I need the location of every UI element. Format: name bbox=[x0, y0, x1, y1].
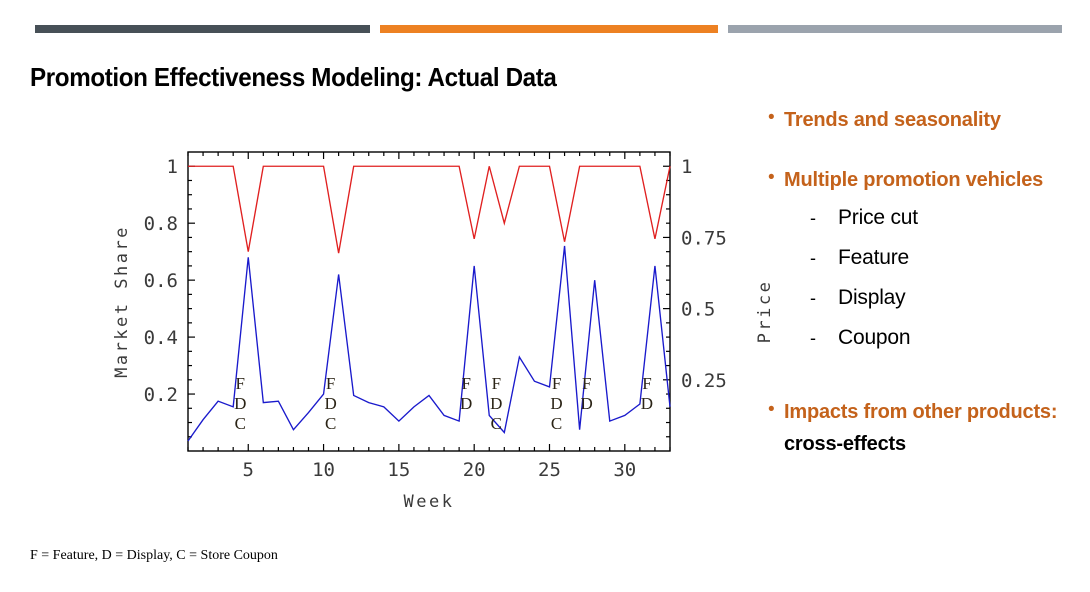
y2-tick-label: 1 bbox=[681, 156, 692, 178]
promo-annotation-letter: D bbox=[234, 394, 246, 413]
promo-annotation-letter: D bbox=[641, 394, 653, 413]
promo-annotation-letter: F bbox=[461, 374, 470, 393]
bullet-spacer bbox=[768, 138, 1080, 164]
bullet-item-vehicles: • Multiple promotion vehicles bbox=[768, 164, 1080, 196]
chart-svg: 51015202530Week0.20.40.60.81Market Share… bbox=[105, 138, 805, 513]
bullet-label-cross-effects-emphasis: cross-effects bbox=[784, 433, 906, 455]
bullet-item-trends: • Trends and seasonality bbox=[768, 104, 1080, 136]
y-tick-label: 0.4 bbox=[144, 327, 178, 349]
subitem-feature: - Feature bbox=[810, 238, 1080, 278]
x-tick-label: 10 bbox=[312, 459, 335, 481]
promo-annotation-letter: C bbox=[235, 414, 246, 433]
y-axis-title: Market Share bbox=[112, 225, 132, 378]
bullet-label-cross-effects-accent: Impacts from other products: bbox=[784, 401, 1057, 423]
subitem-price-cut: - Price cut bbox=[810, 198, 1080, 238]
x-tick-label: 30 bbox=[613, 459, 636, 481]
x-axis-title: Week bbox=[404, 492, 455, 512]
promo-annotation-letter: C bbox=[551, 414, 562, 433]
promo-annotation-letter: F bbox=[642, 374, 651, 393]
subitem-label-display: Display bbox=[838, 278, 905, 318]
promo-annotation-letter: C bbox=[491, 414, 502, 433]
subitem-label-price-cut: Price cut bbox=[838, 198, 918, 238]
dash-icon: - bbox=[810, 318, 838, 358]
promo-annotation-letter: F bbox=[236, 374, 245, 393]
promo-annotation-letter: C bbox=[325, 414, 336, 433]
subitem-label-coupon: Coupon bbox=[838, 318, 910, 358]
y-tick-label: 1 bbox=[167, 156, 178, 178]
bullet-label-cross-effects: Impacts from other products: cross-effec… bbox=[784, 396, 1080, 460]
dash-icon: - bbox=[810, 238, 838, 278]
promo-annotation-letter: D bbox=[581, 394, 593, 413]
bullet-spacer bbox=[768, 358, 1080, 396]
y-tick-label: 0.8 bbox=[144, 213, 178, 235]
subitem-display: - Display bbox=[810, 278, 1080, 318]
bullet-label-trends: Trends and seasonality bbox=[784, 104, 1001, 136]
promo-annotation-letter: F bbox=[582, 374, 591, 393]
y2-tick-label: 0.25 bbox=[681, 370, 727, 392]
promotion-chart: 51015202530Week0.20.40.60.81Market Share… bbox=[105, 138, 805, 513]
y2-tick-label: 0.75 bbox=[681, 227, 727, 249]
bullet-label-vehicles: Multiple promotion vehicles bbox=[784, 164, 1043, 196]
promo-annotation-letter: D bbox=[324, 394, 336, 413]
header-bar-orange bbox=[380, 25, 718, 33]
chart-frame bbox=[188, 152, 670, 451]
subitem-label-feature: Feature bbox=[838, 238, 909, 278]
promo-annotation-letter: D bbox=[550, 394, 562, 413]
bullet-dot-icon: • bbox=[768, 396, 784, 423]
promo-annotation-letter: D bbox=[490, 394, 502, 413]
header-decoration-bars bbox=[0, 0, 1090, 40]
bullet-dot-icon: • bbox=[768, 104, 784, 131]
header-bar-dark bbox=[35, 25, 370, 33]
series-line-price bbox=[188, 166, 670, 253]
x-tick-label: 25 bbox=[538, 459, 561, 481]
promo-annotation-letter: F bbox=[492, 374, 501, 393]
subitem-coupon: - Coupon bbox=[810, 318, 1080, 358]
slide-title: Promotion Effectiveness Modeling: Actual… bbox=[30, 62, 556, 93]
x-tick-label: 20 bbox=[463, 459, 486, 481]
dash-icon: - bbox=[810, 278, 838, 318]
promo-annotation-letter: F bbox=[552, 374, 561, 393]
bullet-panel: • Trends and seasonality • Multiple prom… bbox=[768, 104, 1080, 462]
bullet-dot-icon: • bbox=[768, 164, 784, 191]
bullet-item-cross-effects: • Impacts from other products: cross-eff… bbox=[768, 396, 1080, 460]
header-bar-gray bbox=[728, 25, 1062, 33]
promo-annotation-letter: D bbox=[460, 394, 472, 413]
y-tick-label: 0.2 bbox=[144, 384, 178, 406]
series-line-market-share bbox=[188, 246, 670, 441]
x-tick-label: 15 bbox=[387, 459, 410, 481]
y2-tick-label: 0.5 bbox=[681, 299, 715, 321]
chart-legend-footnote: F = Feature, D = Display, C = Store Coup… bbox=[30, 548, 278, 564]
x-tick-label: 5 bbox=[243, 459, 254, 481]
promo-annotation-letter: F bbox=[326, 374, 335, 393]
y-tick-label: 0.6 bbox=[144, 270, 178, 292]
dash-icon: - bbox=[810, 198, 838, 238]
